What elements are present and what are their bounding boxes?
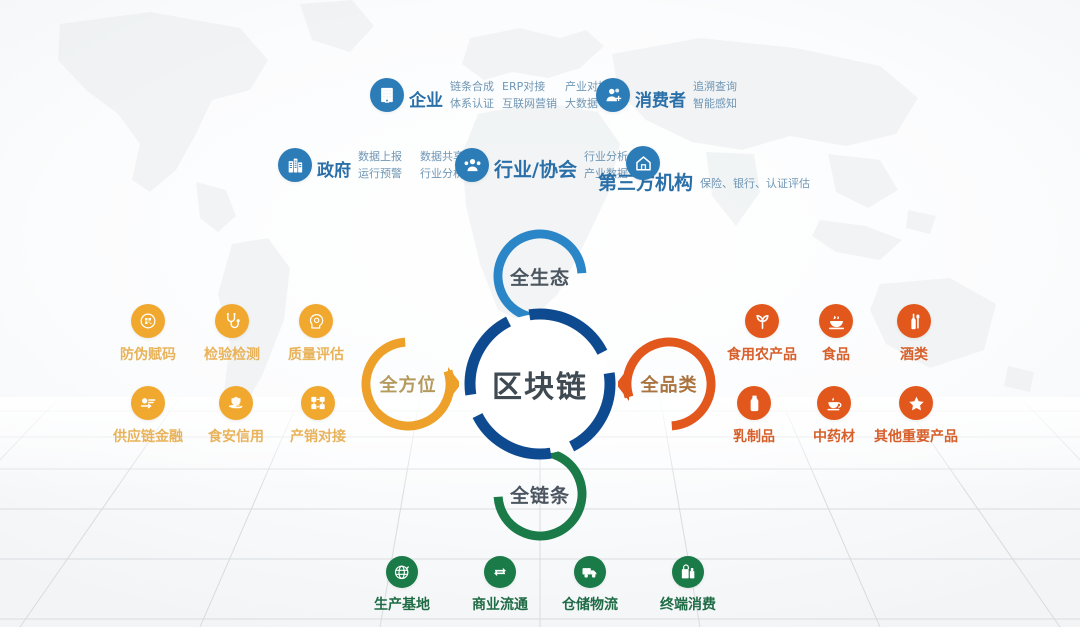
category-item-label: 中药材: [813, 426, 855, 446]
infographic-canvas: 企业 链条合成 体系认证 ERP对接 互联网营销 产业对接 大数据: [0, 0, 1080, 627]
chain-item-label: 终端消费: [660, 594, 716, 614]
truck-icon: [574, 556, 606, 588]
chain-item-label: 仓储物流: [562, 594, 618, 614]
chain-item-end-consumption[interactable]: 终端消费: [648, 556, 728, 614]
milk-bottle-icon: [737, 386, 771, 420]
head-gear-icon: [299, 304, 333, 338]
wine-bottle-icon: [897, 304, 931, 338]
stakeholder-name: 政府: [317, 163, 351, 182]
ring-center-label: 区块链: [492, 362, 588, 406]
stakeholder-tags: 追溯查询 智能感知: [693, 79, 737, 112]
food-bowl-icon: [819, 304, 853, 338]
stakeholder-tags: 链条合成 体系认证 ERP对接 互联网营销 产业对接 大数据: [450, 79, 609, 112]
category-item-food[interactable]: 食品: [806, 304, 866, 364]
stakeholder-consumer[interactable]: 消费者 追溯查询 智能感知: [596, 78, 737, 112]
tag: 大数据: [565, 96, 598, 113]
stakeholder-government[interactable]: 政府 数据上报 运行预警 数据共享 行业分析: [278, 148, 464, 182]
globe-plant-icon: [386, 556, 418, 588]
omni-item-quality-assessment[interactable]: 质量评估: [278, 304, 354, 364]
omni-item-label: 产销对接: [290, 426, 346, 446]
ring-right-categories[interactable]: 全品类: [618, 333, 720, 435]
ring-bottom-label: 全链条: [510, 481, 570, 508]
tag: 体系认证: [450, 96, 494, 113]
category-item-agricultural[interactable]: 食用农产品: [718, 304, 806, 364]
stakeholder-name: 企业: [409, 93, 443, 112]
tag: 数据上报: [358, 149, 402, 166]
herb-pot-icon: [817, 386, 851, 420]
category-item-liquor[interactable]: 酒类: [884, 304, 944, 364]
category-item-label: 食品: [822, 344, 850, 364]
stakeholder-enterprise[interactable]: 企业 链条合成 体系认证 ERP对接 互联网营销 产业对接 大数据: [370, 78, 609, 112]
omni-item-label: 检验检测: [204, 344, 260, 364]
star-icon: [899, 386, 933, 420]
link-nodes-icon: [301, 386, 335, 420]
ring-left-omnidirectional[interactable]: 全方位: [357, 333, 459, 435]
shopping-bag-icon: [672, 556, 704, 588]
user-group-add-icon: [596, 78, 630, 112]
chain-item-commercial-circulation[interactable]: 商业流通: [460, 556, 540, 614]
qr-seal-icon: [131, 304, 165, 338]
stethoscope-icon: [215, 304, 249, 338]
tag: 保险、银行、认证评估: [700, 176, 810, 193]
omni-item-production-sales-link[interactable]: 产销对接: [280, 386, 356, 446]
tag: 链条合成: [450, 79, 494, 96]
government-building-icon: [278, 148, 312, 182]
chain-item-label: 生产基地: [374, 594, 430, 614]
tag: ERP对接: [502, 79, 545, 96]
tag: 互联网营销: [502, 96, 557, 113]
omni-item-label: 质量评估: [288, 344, 344, 364]
omni-item-label: 防伪赋码: [120, 344, 176, 364]
chain-item-label: 商业流通: [472, 594, 528, 614]
category-item-label: 其他重要产品: [874, 426, 958, 446]
chain-item-production-base[interactable]: 生产基地: [362, 556, 442, 614]
ring-top-label: 全生态: [510, 263, 570, 290]
tag: 追溯查询: [693, 79, 737, 96]
omni-item-food-safety-credit[interactable]: 食安信用: [196, 386, 276, 446]
tag: 运行预警: [358, 166, 402, 183]
omni-item-inspection[interactable]: 检验检测: [194, 304, 270, 364]
category-item-label: 食用农产品: [727, 344, 797, 364]
stakeholder-tags: 数据上报 运行预警 数据共享 行业分析: [358, 149, 464, 182]
coin-flow-icon: [131, 386, 165, 420]
omni-item-anti-counterfeit[interactable]: 防伪赋码: [110, 304, 186, 364]
category-item-dairy[interactable]: 乳制品: [722, 386, 786, 446]
stakeholder-tags: 保险、银行、认证评估: [700, 176, 810, 196]
category-item-label: 酒类: [900, 344, 928, 364]
category-item-other-important[interactable]: 其他重要产品: [866, 386, 966, 446]
cycle-arrows-icon: [484, 556, 516, 588]
people-network-icon: [455, 148, 489, 182]
omni-item-supply-chain-finance[interactable]: 供应链金融: [104, 386, 192, 446]
home-shield-icon: [626, 146, 660, 180]
stakeholder-name: 行业/协会: [494, 161, 577, 182]
ring-left-label: 全方位: [380, 371, 437, 397]
hand-shield-icon: [219, 386, 253, 420]
category-item-herbal-medicine[interactable]: 中药材: [802, 386, 866, 446]
chain-item-warehouse-logistics[interactable]: 仓储物流: [550, 556, 630, 614]
tag: 智能感知: [693, 96, 737, 113]
sprout-icon: [745, 304, 779, 338]
omni-item-label: 食安信用: [208, 426, 264, 446]
ring-center-blockchain[interactable]: 区块链: [456, 300, 624, 468]
category-item-label: 乳制品: [733, 426, 775, 446]
omni-item-label: 供应链金融: [113, 426, 183, 446]
building-grid-icon: [370, 78, 404, 112]
stakeholder-third-party[interactable]: 第三方机构 保险、银行、认证评估: [598, 148, 810, 195]
stakeholder-name: 消费者: [635, 93, 686, 112]
ring-right-label: 全品类: [641, 371, 698, 397]
